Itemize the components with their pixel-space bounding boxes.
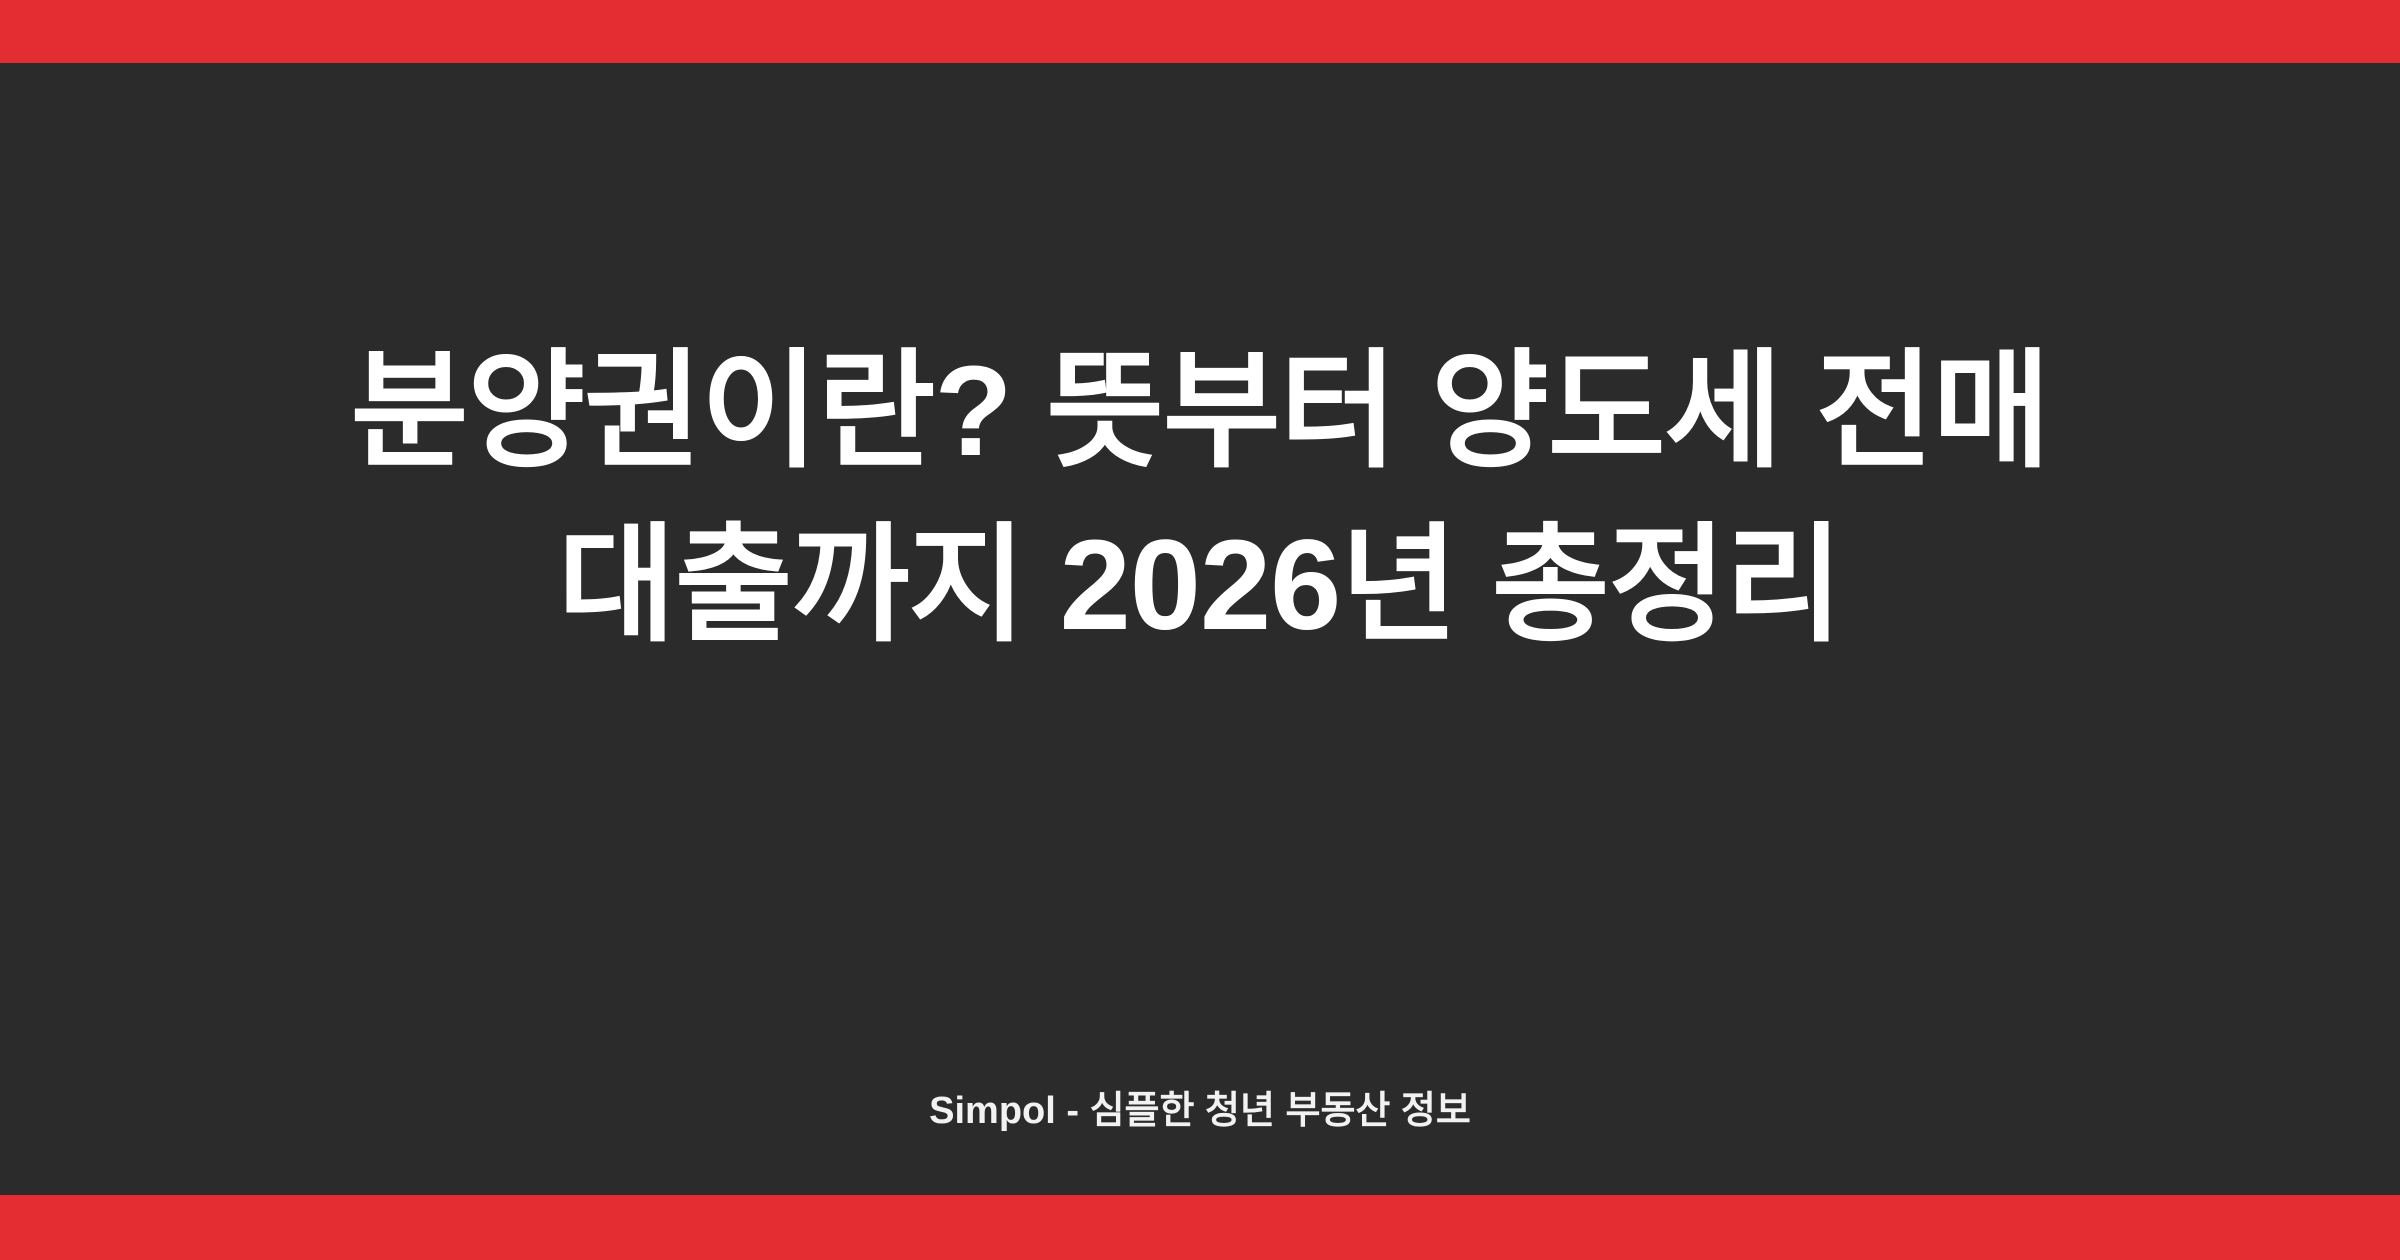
thumbnail-card: 분양권이란? 뜻부터 양도세 전매 대출까지 2026년 총정리 Simpol …: [0, 0, 2400, 1260]
title-block: 분양권이란? 뜻부터 양도세 전매 대출까지 2026년 총정리: [0, 325, 2400, 673]
top-accent-bar: [0, 0, 2400, 63]
bottom-accent-bar: [0, 1195, 2400, 1260]
card-body: 분양권이란? 뜻부터 양도세 전매 대출까지 2026년 총정리 Simpol …: [0, 63, 2400, 1195]
page-title: 분양권이란? 뜻부터 양도세 전매 대출까지 2026년 총정리: [140, 325, 2260, 673]
byline-block: Simpol - 심플한 청년 부동산 정보: [0, 1089, 2400, 1135]
brand-byline: Simpol - 심플한 청년 부동산 정보: [929, 1089, 1471, 1135]
